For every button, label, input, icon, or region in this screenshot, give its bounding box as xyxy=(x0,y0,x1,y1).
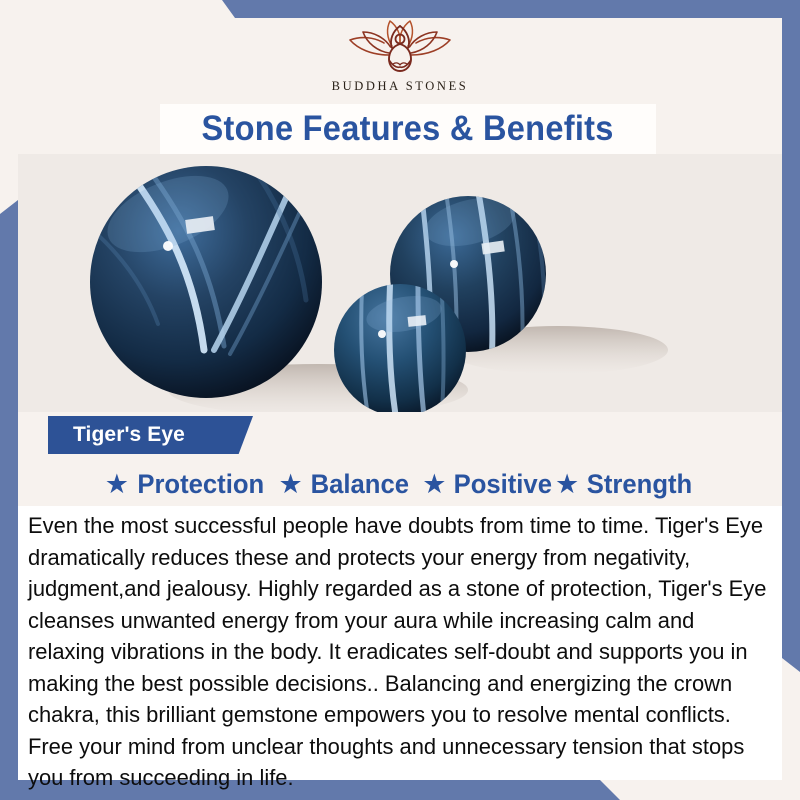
frame-bar-left xyxy=(0,200,18,800)
star-icon: ★ xyxy=(105,471,129,498)
benefit-item-3: ★ Strength xyxy=(555,469,695,500)
benefit-item-1: ★ Balance xyxy=(278,469,411,500)
page-title-strip: Stone Features & Benefits xyxy=(160,104,656,154)
benefit-label: Protection xyxy=(137,469,264,500)
description-panel: Even the most successful people have dou… xyxy=(18,506,782,780)
page-title: Stone Features & Benefits xyxy=(202,109,614,149)
stone-name-label: Tiger's Eye xyxy=(48,423,185,447)
stone-name-banner: Tiger's Eye xyxy=(48,416,253,454)
benefit-item-0: ★ Protection xyxy=(105,469,268,500)
infographic-page: BUDDHA STONES Stone Features & Benefits xyxy=(0,0,800,800)
star-icon: ★ xyxy=(422,471,446,498)
lotus-meditation-icon xyxy=(341,18,459,78)
brand-wordmark: BUDDHA STONES xyxy=(332,79,469,94)
benefits-row: ★ Protection ★ Balance ★ Positive ★ Stre… xyxy=(18,462,782,506)
star-icon: ★ xyxy=(555,471,579,498)
benefit-label: Positive xyxy=(454,469,552,500)
frame-bar-top xyxy=(222,0,800,18)
description-text: Even the most successful people have dou… xyxy=(28,510,771,794)
hero-image xyxy=(18,154,782,412)
gemstone-spheres-illustration xyxy=(18,154,782,412)
brand-logo: BUDDHA STONES xyxy=(0,18,800,102)
benefit-label: Balance xyxy=(310,469,408,500)
benefit-item-2: ★ Positive xyxy=(422,469,555,500)
benefit-label: Strength xyxy=(587,469,692,500)
star-icon: ★ xyxy=(278,471,302,498)
